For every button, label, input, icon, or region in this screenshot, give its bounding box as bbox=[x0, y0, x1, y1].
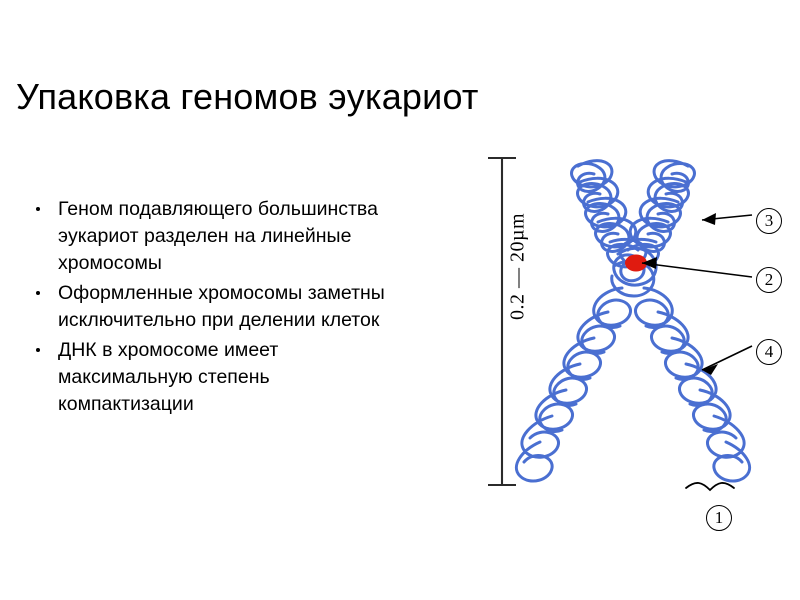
callout-number-3[interactable]: 3 bbox=[756, 208, 782, 234]
callout-number-4[interactable]: 4 bbox=[756, 339, 782, 365]
callout-number-2[interactable]: 2 bbox=[756, 267, 782, 293]
slide-canvas: Упаковка геномов эукариот Геном подавляю… bbox=[0, 0, 800, 600]
bullet-dot-icon bbox=[36, 207, 40, 211]
scale-caption: 0.2 — 20µm bbox=[507, 197, 530, 337]
leader-line-2 bbox=[642, 257, 752, 277]
brace-marker bbox=[686, 483, 734, 490]
list-item: ДНК в хромосоме имеет максимальную степе… bbox=[30, 337, 390, 418]
chromosome-figure bbox=[430, 130, 800, 560]
leader-line-4 bbox=[702, 346, 752, 375]
bullet-dot-icon bbox=[36, 291, 40, 295]
list-item: Геном подавляющего большинства эукариот … bbox=[30, 196, 390, 277]
list-item: Оформленные хромосомы заметны исключител… bbox=[30, 280, 390, 334]
chromosome-body bbox=[516, 161, 749, 481]
leader-line-3 bbox=[702, 213, 752, 225]
callout-number-1[interactable]: 1 bbox=[706, 505, 732, 531]
bullet-dot-icon bbox=[36, 348, 40, 352]
bullet-list: Геном подавляющего большинства эукариот … bbox=[30, 196, 390, 421]
list-item-text: ДНК в хромосоме имеет максимальную степе… bbox=[58, 339, 278, 415]
list-item-text: Геном подавляющего большинства эукариот … bbox=[58, 198, 378, 274]
chromosome-illustration bbox=[430, 130, 800, 560]
page-title: Упаковка геномов эукариот bbox=[16, 76, 576, 118]
list-item-text: Оформленные хромосомы заметны исключител… bbox=[58, 282, 385, 331]
